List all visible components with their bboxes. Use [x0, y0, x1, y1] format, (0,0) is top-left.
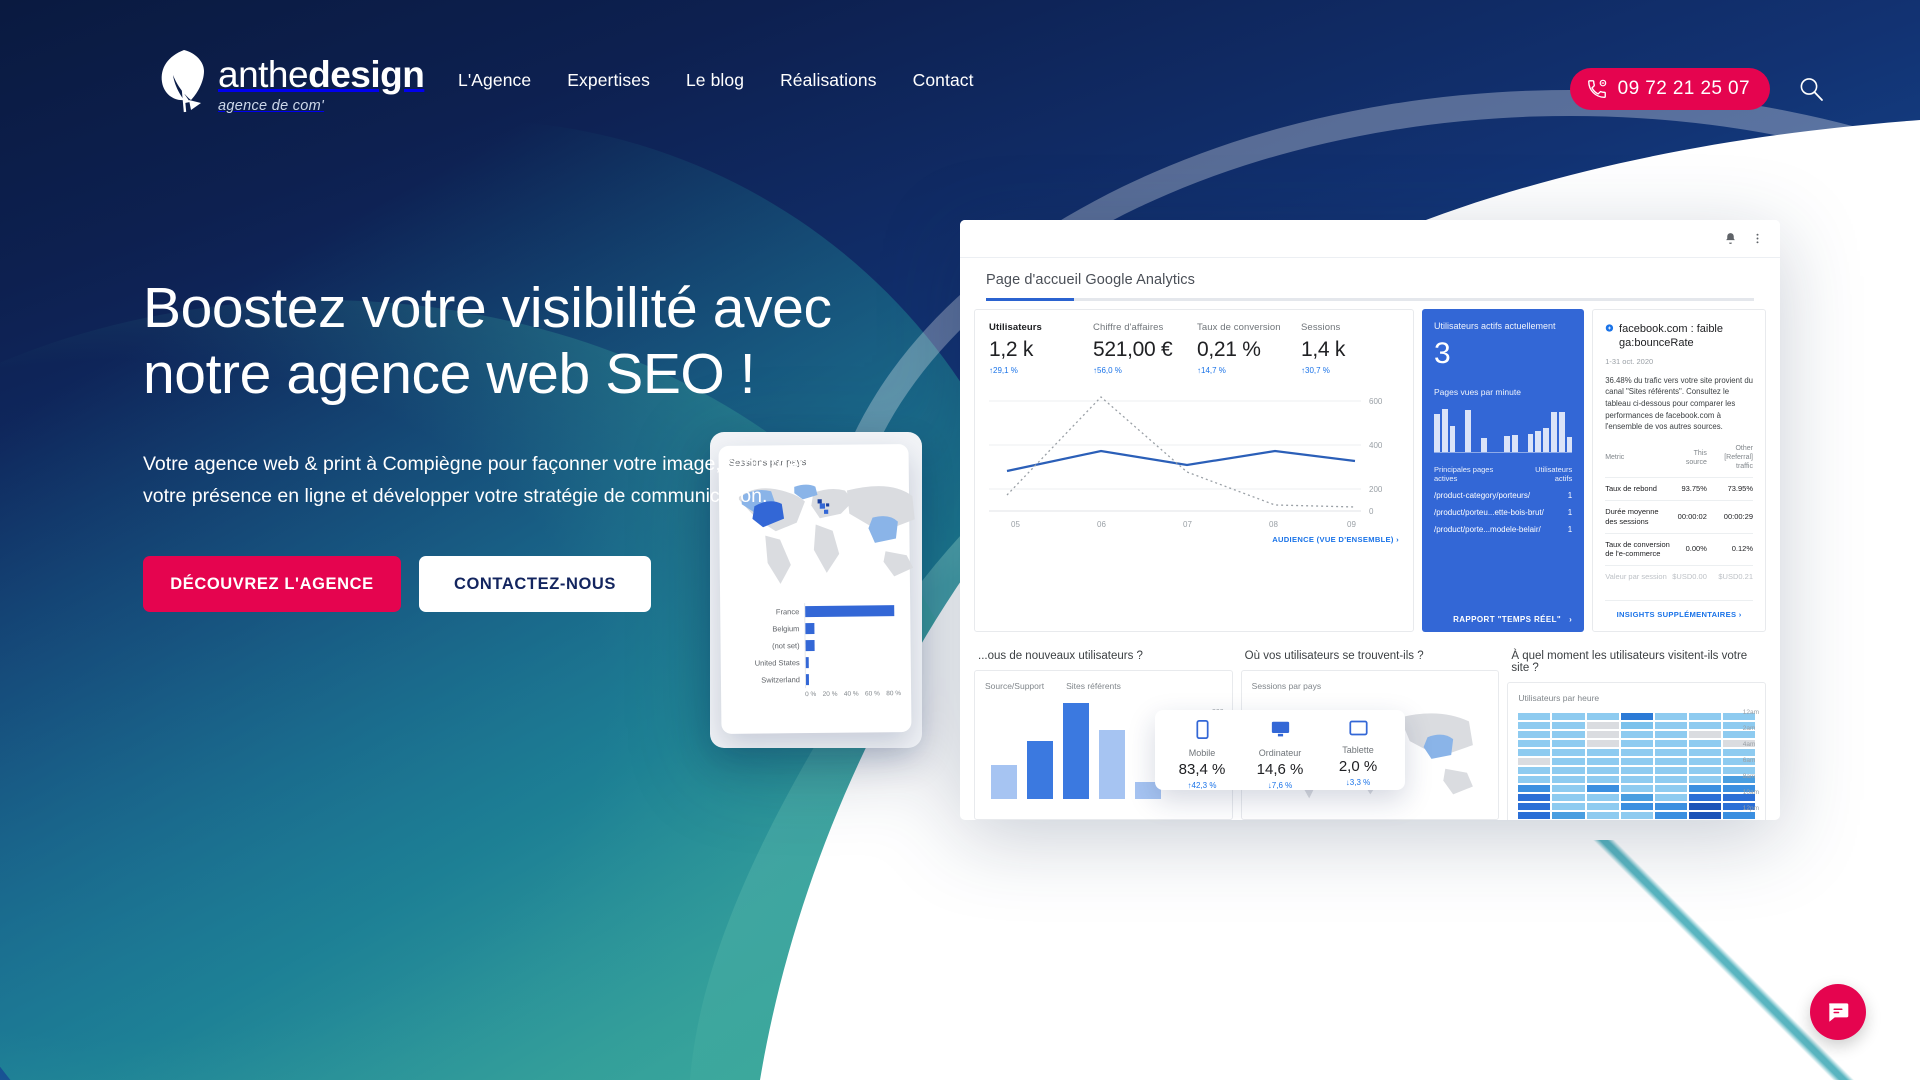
page-users: 1	[1568, 491, 1572, 500]
metric-name: Taux de rebond	[1605, 478, 1672, 501]
kpi-label: Chiffre d'affaires	[1093, 322, 1191, 333]
tab-source-support[interactable]: Source/Support	[985, 681, 1044, 691]
kpi-delta: ↑14,7 %	[1197, 366, 1295, 375]
metric-name: Valeur par session	[1605, 566, 1672, 588]
device-tablet: Tablette 2,0 % ↓3,3 %	[1319, 720, 1397, 780]
acquisition-tabs: Source/Support Sites référents	[985, 681, 1222, 691]
insights-panel: facebook.com : faible ga:bounceRate 1-31…	[1592, 309, 1766, 632]
audience-overview-link[interactable]: AUDIENCE (VUE D'ENSEMBLE) ›	[989, 533, 1399, 544]
col-other-traffic: Other [Referral] traffic	[1707, 444, 1753, 478]
svg-text:400: 400	[1369, 441, 1383, 450]
device-label: Ordinateur	[1241, 748, 1319, 758]
insight-body: 36.48% du trafic vers votre site provien…	[1605, 375, 1753, 433]
hour-label: 8am	[1743, 773, 1759, 780]
cta-row: DÉCOUVREZ L'AGENCE CONTACTEZ-NOUS	[143, 556, 903, 612]
svg-text:07: 07	[1183, 520, 1192, 529]
additional-insights-link[interactable]: INSIGHTS SUPPLÉMENTAIRES ›	[1605, 600, 1753, 619]
kpi-delta: ↑29,1 %	[989, 366, 1087, 375]
dashboard-row-1: Utilisateurs 1,2 k ↑29,1 % Chiffre d'aff…	[960, 301, 1780, 632]
realtime-panel: Utilisateurs actifs actuellement 3 Pages…	[1422, 309, 1584, 632]
device-label: Tablette	[1319, 745, 1397, 755]
leaf-icon	[158, 48, 210, 116]
col-active-users: Utilisateurs actifs	[1518, 465, 1572, 483]
insights-icon	[1605, 322, 1614, 334]
metric-other: 00:00:29	[1707, 501, 1753, 534]
mobile-icon	[1195, 720, 1210, 739]
insight-metrics-table: Metric This source Other [Referral] traf…	[1605, 444, 1753, 588]
overview-panel: Utilisateurs 1,2 k ↑29,1 % Chiffre d'aff…	[974, 309, 1414, 632]
svg-text:200: 200	[1369, 485, 1383, 494]
table-header-row: Metric This source Other [Referral] traf…	[1605, 444, 1753, 478]
search-icon	[1797, 75, 1825, 103]
realtime-bar-chart	[1434, 405, 1572, 453]
svg-text:09: 09	[1347, 520, 1356, 529]
metric-name: Taux de conversion de l'e-commerce	[1605, 533, 1672, 566]
country-bar-track	[805, 670, 901, 688]
more-vertical-icon[interactable]	[1751, 232, 1764, 245]
svg-text:05: 05	[1011, 520, 1020, 529]
hour-label: 12am	[1743, 709, 1759, 716]
metric-source: 00:00:02	[1672, 501, 1707, 534]
nav-item-realisations[interactable]: Réalisations	[780, 70, 877, 91]
svg-text:06: 06	[1097, 520, 1106, 529]
page-path: /product/porte...modele-belair/	[1434, 525, 1541, 534]
hero-subcopy: Votre agence web & print à Compiègne pou…	[143, 449, 815, 512]
device-value: 14,6 %	[1241, 761, 1319, 778]
phone-button[interactable]: 09 72 21 25 07	[1570, 68, 1770, 110]
metric-other: 73.95%	[1707, 478, 1753, 501]
main-nav: L'Agence Expertises Le blog Réalisations…	[458, 70, 974, 91]
analytics-dashboard-mockup: Page d'accueil Google Analytics Utilisat…	[960, 220, 1780, 820]
insight-title: facebook.com : faible ga:bounceRate	[1619, 322, 1753, 351]
phone-number: 09 72 21 25 07	[1618, 78, 1750, 100]
col-pages: Principales pages actives	[1434, 465, 1518, 483]
nav-item-expertises[interactable]: Expertises	[567, 70, 650, 91]
kpi-value: 521,00 €	[1093, 338, 1191, 362]
country-name: United States	[731, 658, 805, 668]
country-row: Switzerland	[731, 670, 901, 689]
tab-referrers[interactable]: Sites référents	[1066, 681, 1121, 691]
table-row: /product-category/porteurs/ 1	[1434, 491, 1572, 500]
site-logo[interactable]: anthedesign agence de com'	[158, 48, 424, 116]
table-row: Valeur par session $USD0.00 $USD0.21	[1605, 566, 1753, 588]
device-value: 2,0 %	[1319, 758, 1397, 775]
dashboard-title: Page d'accueil Google Analytics	[960, 258, 1780, 288]
kpi-revenue: Chiffre d'affaires 521,00 € ↑56,0 %	[1093, 322, 1191, 375]
nav-item-blog[interactable]: Le blog	[686, 70, 744, 91]
kpi-label: Sessions	[1301, 322, 1399, 333]
country-bar-track	[805, 653, 901, 671]
dashboard-topbar	[960, 220, 1780, 258]
geography-question: Où vos utilisateurs se trouvent-ils ?	[1241, 640, 1500, 670]
axis-tick: 80 %	[886, 690, 901, 697]
country-bar-track	[804, 619, 900, 637]
kpi-label: Utilisateurs	[989, 322, 1087, 333]
hours-heatmap	[1518, 713, 1755, 819]
hero-diagonal-accent	[1540, 840, 1920, 1080]
page-users: 1	[1568, 525, 1572, 534]
kpi-delta: ↑30,7 %	[1301, 366, 1399, 375]
page-users: 1	[1568, 508, 1572, 517]
page-title: Boostez votre visibilité avec notre agen…	[143, 275, 903, 407]
site-header: anthedesign agence de com' L'Agence Expe…	[0, 0, 1920, 140]
hour-axis-labels: 12am 2am 4am 6am 8am 10am 12pm	[1743, 709, 1759, 812]
logo-word-light: anthe	[218, 54, 308, 95]
axis-tick: 40 %	[844, 691, 859, 698]
timing-question: À quel moment les utilisateurs visitent-…	[1507, 640, 1766, 682]
country-row: Belgium	[730, 619, 900, 638]
phone-icon	[1586, 78, 1608, 100]
device-breakdown-card: Mobile 83,4 % ↑42,3 % Ordinateur 14,6 % …	[1155, 710, 1405, 790]
kpi-value: 1,4 k	[1301, 338, 1399, 362]
insight-header: facebook.com : faible ga:bounceRate	[1605, 322, 1753, 351]
country-name: Switzerland	[731, 675, 805, 685]
search-button[interactable]	[1790, 68, 1832, 110]
logo-tagline: agence de com'	[218, 98, 424, 114]
kpi-delta: ↑56,0 %	[1093, 366, 1191, 375]
hour-label: 12pm	[1743, 805, 1759, 812]
hero-copy: Boostez votre visibilité avec notre agen…	[143, 275, 903, 612]
device-desktop: Ordinateur 14,6 % ↓7,6 %	[1241, 720, 1319, 780]
realtime-report-link[interactable]: RAPPORT "TEMPS RÉEL" ›	[1434, 615, 1572, 624]
metric-source: 0.00%	[1672, 533, 1707, 566]
country-row: (not set)	[731, 636, 901, 655]
table-row: Taux de rebond 93.75% 73.95%	[1605, 478, 1753, 501]
hour-label: 2am	[1743, 725, 1759, 732]
country-name: (not set)	[731, 641, 805, 651]
nav-item-contact[interactable]: Contact	[913, 70, 974, 91]
acquisition-question: ...ous de nouveaux utilisateurs ?	[974, 640, 1233, 670]
device-delta: ↑42,3 %	[1163, 781, 1241, 790]
hour-label: 6am	[1743, 757, 1759, 764]
country-bar-track	[805, 636, 901, 654]
kpi-users: Utilisateurs 1,2 k ↑29,1 %	[989, 322, 1087, 375]
svg-text:08: 08	[1269, 520, 1278, 529]
hour-label: 4am	[1743, 741, 1759, 748]
country-bars: France Belgium (not set) United States S…	[730, 602, 901, 699]
chat-icon	[1825, 999, 1851, 1025]
chat-widget-button[interactable]	[1810, 984, 1866, 1040]
users-line-chart: 600 400 200 0 05 06 07 08 09	[989, 383, 1399, 533]
metric-name: Durée moyenne des sessions	[1605, 501, 1672, 534]
metric-source: 93.75%	[1672, 478, 1707, 501]
dashboard-tab-underline	[986, 298, 1754, 301]
kpi-sessions: Sessions 1,4 k ↑30,7 %	[1301, 322, 1399, 375]
device-label: Mobile	[1163, 748, 1241, 758]
country-row: United States	[731, 653, 901, 672]
device-value: 83,4 %	[1163, 761, 1241, 778]
timing-column: À quel moment les utilisateurs visitent-…	[1507, 640, 1766, 820]
geography-subtitle: Sessions par pays	[1252, 681, 1489, 691]
kpi-value: 1,2 k	[989, 338, 1087, 362]
timing-subtitle: Utilisateurs par heure	[1518, 693, 1755, 703]
bell-icon[interactable]	[1724, 232, 1737, 245]
realtime-count: 3	[1434, 339, 1572, 369]
logo-word-bold: design	[308, 54, 424, 95]
hour-label: 10am	[1743, 789, 1759, 796]
timing-card: Utilisateurs par heure	[1507, 682, 1766, 820]
device-delta: ↓7,6 %	[1241, 781, 1319, 790]
col-this-source: This source	[1672, 444, 1707, 478]
desktop-icon	[1271, 720, 1290, 739]
page-path: /product-category/porteurs/	[1434, 491, 1530, 500]
insight-date: 1-31 oct. 2020	[1605, 357, 1753, 366]
table-row: /product/porte...modele-belair/ 1	[1434, 525, 1572, 534]
line-chart-svg: 600 400 200 0 05 06 07 08 09	[989, 383, 1401, 533]
contact-us-button[interactable]: CONTACTEZ-NOUS	[419, 556, 651, 612]
tablet-icon	[1349, 720, 1368, 736]
table-row: Durée moyenne des sessions 00:00:02 00:0…	[1605, 501, 1753, 534]
kpi-conversion: Taux de conversion 0,21 % ↑14,7 %	[1197, 322, 1295, 375]
metric-other: $USD0.21	[1707, 566, 1753, 588]
col-metric: Metric	[1605, 444, 1672, 478]
axis-tick: 20 %	[823, 691, 838, 698]
discover-agency-button[interactable]: DÉCOUVREZ L'AGENCE	[143, 556, 401, 612]
realtime-pages-table: Principales pages actives Utilisateurs a…	[1434, 465, 1572, 534]
table-row: Taux de conversion de l'e-commerce 0.00%…	[1605, 533, 1753, 566]
device-mobile: Mobile 83,4 % ↑42,3 %	[1163, 720, 1241, 780]
axis-tick: 0 %	[805, 691, 816, 698]
country-name: Belgium	[730, 624, 804, 634]
svg-text:0: 0	[1369, 507, 1374, 516]
kpi-row: Utilisateurs 1,2 k ↑29,1 % Chiffre d'aff…	[989, 322, 1399, 375]
kpi-label: Taux de conversion	[1197, 322, 1295, 333]
device-delta: ↓3,3 %	[1319, 778, 1397, 787]
table-row: /product/porteu...ette-bois-brut/ 1	[1434, 508, 1572, 517]
metric-other: 0.12%	[1707, 533, 1753, 566]
nav-item-agence[interactable]: L'Agence	[458, 70, 531, 91]
metric-source: $USD0.00	[1672, 566, 1707, 588]
realtime-bars-label: Pages vues par minute	[1434, 387, 1572, 397]
realtime-label: Utilisateurs actifs actuellement	[1434, 321, 1572, 331]
axis-tick: 60 %	[865, 690, 880, 697]
page-path: /product/porteu...ette-bois-brut/	[1434, 508, 1544, 517]
svg-text:600: 600	[1369, 397, 1383, 406]
country-axis: 0 % 20 % 40 % 60 % 80 %	[805, 687, 901, 698]
table-header: Principales pages actives Utilisateurs a…	[1434, 465, 1572, 483]
kpi-value: 0,21 %	[1197, 338, 1295, 362]
